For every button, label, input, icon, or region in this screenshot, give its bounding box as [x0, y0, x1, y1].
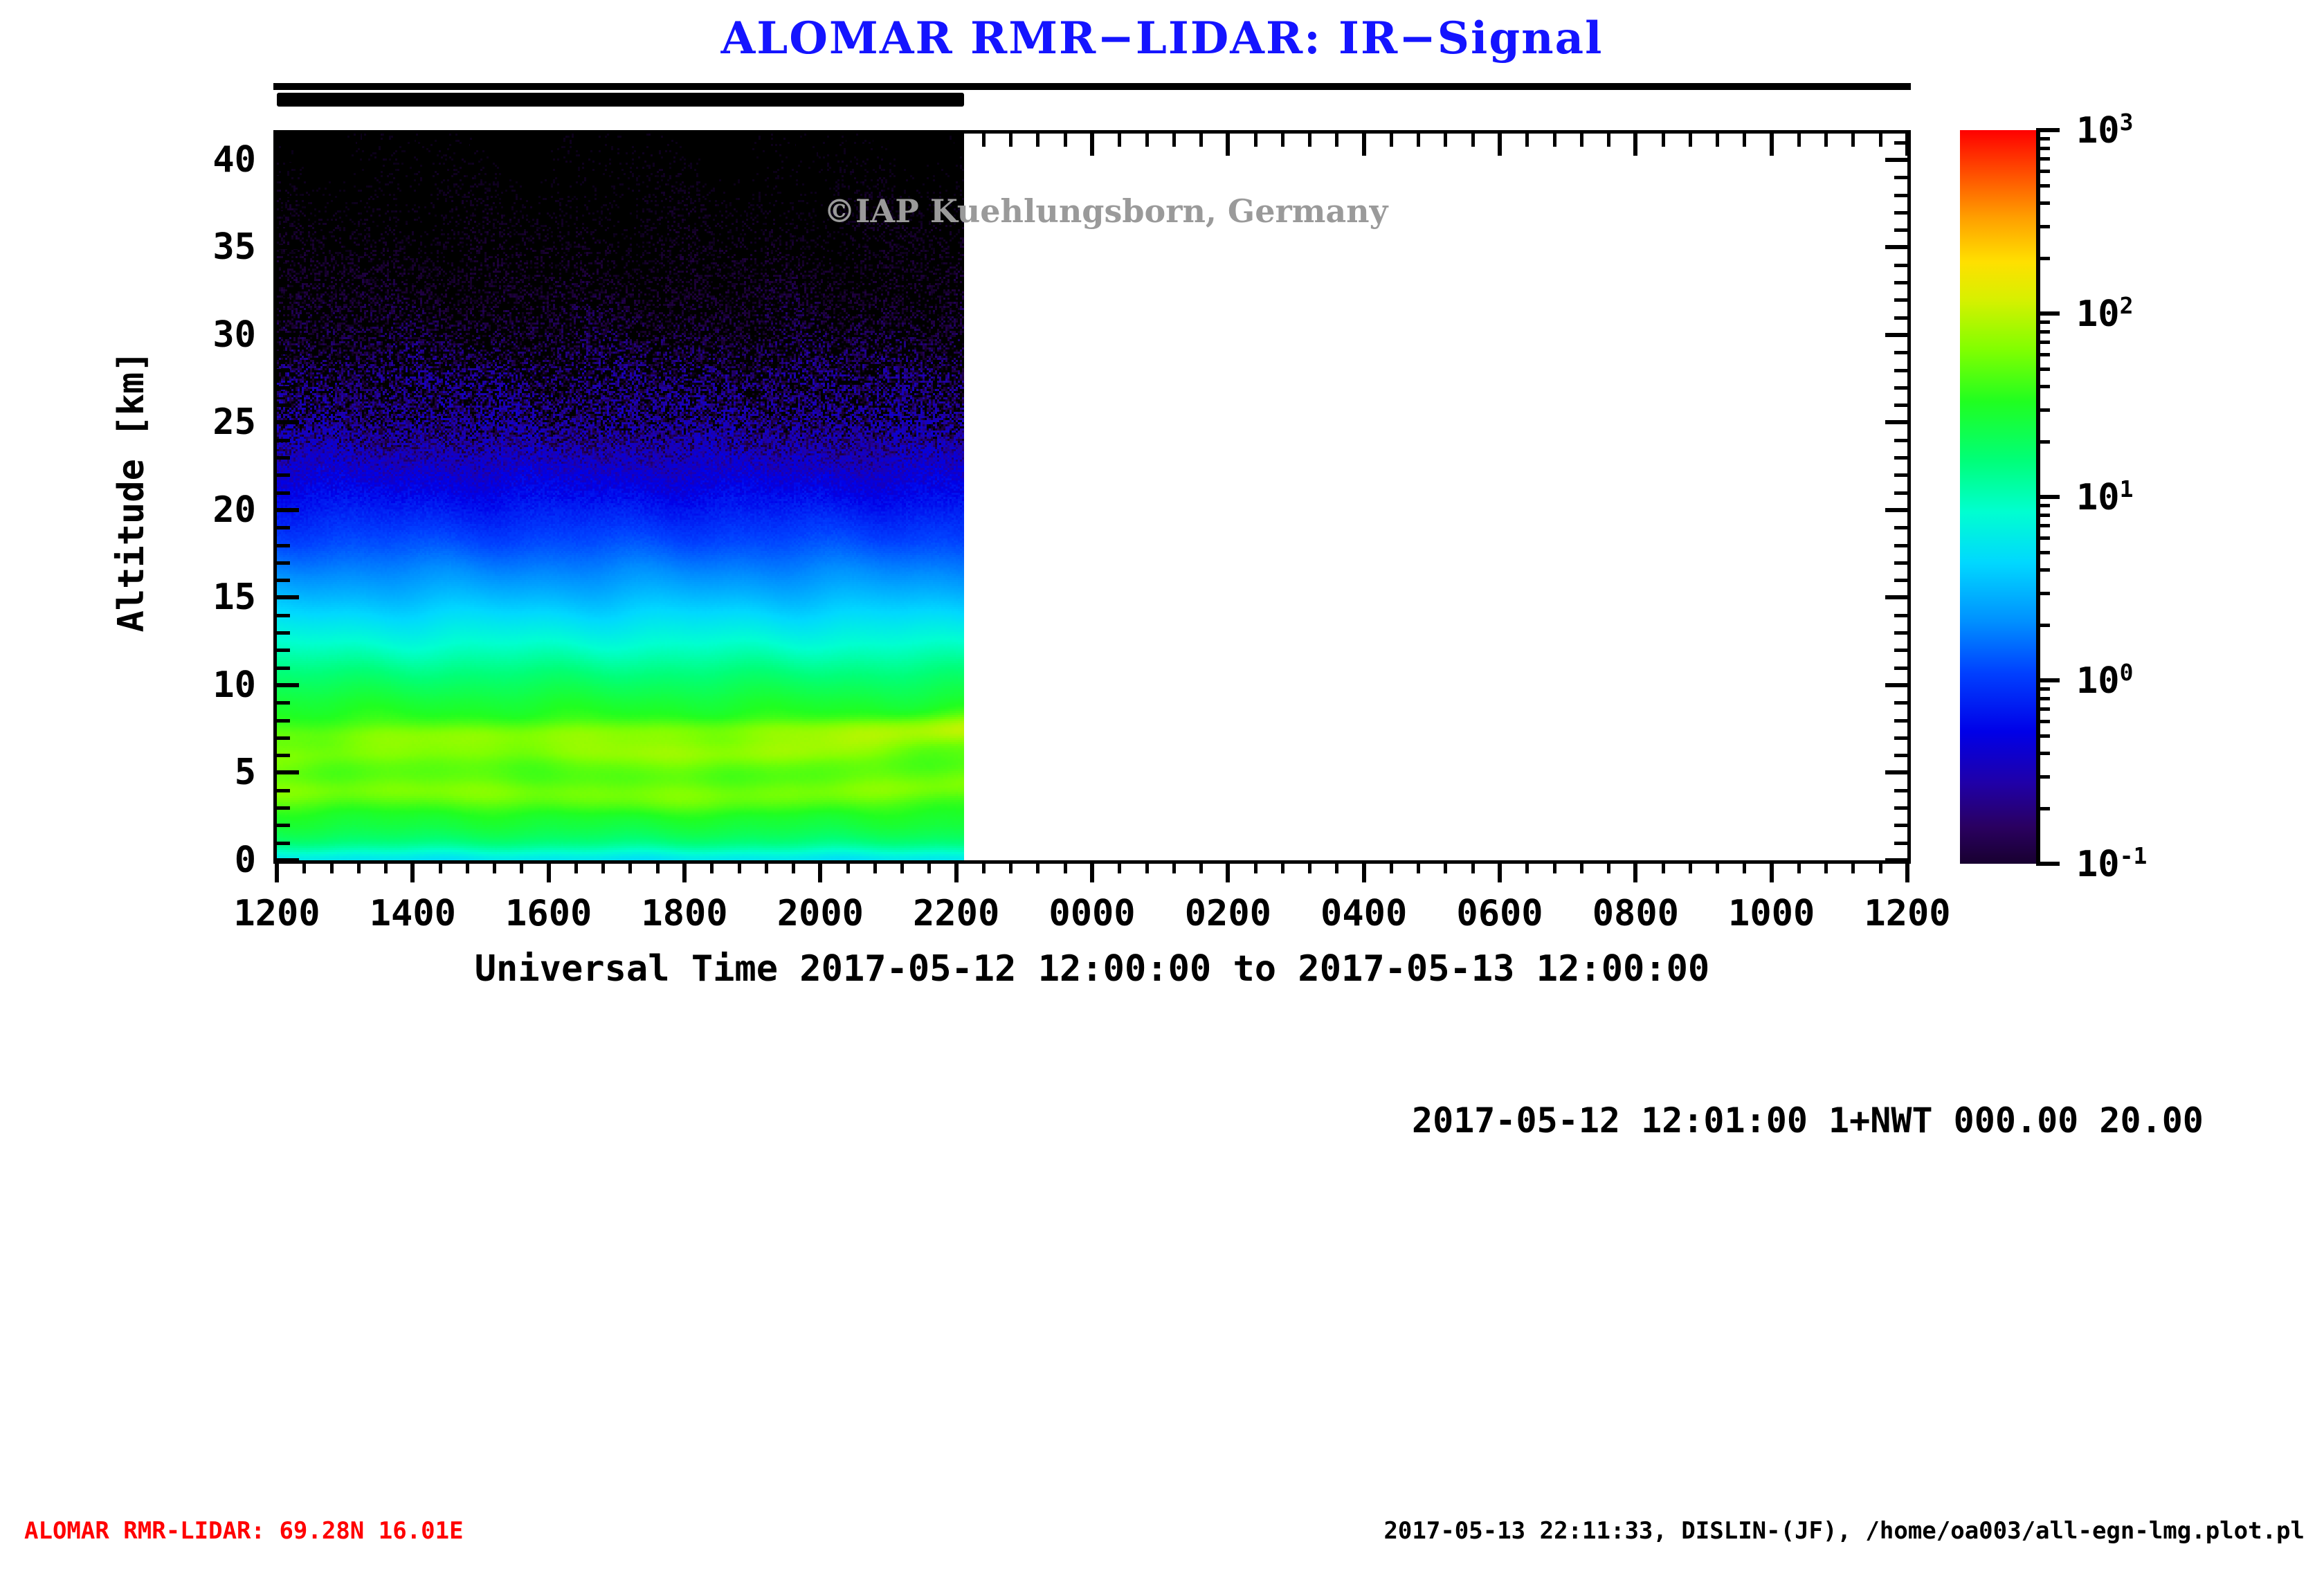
x-tick-major-top — [410, 134, 415, 156]
y-tick-major — [277, 420, 299, 424]
generator-footer: 2017-05-13 22:11:33, DISLIN-(JF), /home/… — [1383, 1517, 2305, 1545]
x-tick-minor — [1662, 860, 1665, 873]
x-axis-title: Universal Time 2017-05-12 12:00:00 to 20… — [273, 948, 1911, 990]
colorbar-tick-minor — [2036, 137, 2050, 140]
y-tick-minor — [277, 369, 290, 372]
y-tick-minor — [277, 526, 290, 529]
x-tick-minor — [1851, 860, 1855, 873]
y-tick-minor-right — [1894, 351, 1907, 354]
x-tick-minor-top — [1607, 134, 1610, 147]
y-tick-minor-right — [1894, 754, 1907, 757]
x-tick-minor — [520, 860, 523, 873]
x-tick-major — [1498, 860, 1502, 882]
x-tick-major — [1770, 860, 1774, 882]
y-tick-major-right — [1885, 595, 1907, 599]
colorbar-tick-minor — [2036, 408, 2050, 412]
x-tick-minor-top — [846, 134, 850, 147]
y-tick-minor — [277, 561, 290, 565]
colorbar-tick-minor — [2036, 536, 2050, 540]
y-tick-minor-right — [1894, 403, 1907, 407]
y-tick-major — [277, 333, 299, 337]
colorbar-tick-minor — [2036, 807, 2050, 810]
y-tick-minor — [277, 701, 290, 705]
x-tick-minor — [439, 860, 442, 873]
y-tick-major — [277, 770, 299, 774]
x-tick-minor-top — [601, 134, 605, 147]
x-tick-major-top — [275, 134, 279, 156]
y-tick-minor-right — [1894, 264, 1907, 267]
x-tick-major-top — [1362, 134, 1366, 156]
colorbar-tick-minor — [2036, 353, 2050, 356]
y-tick-minor-right — [1894, 561, 1907, 565]
colorbar-tick-minor — [2036, 385, 2050, 388]
x-tick-minor — [900, 860, 904, 873]
x-tick-minor-top — [1525, 134, 1529, 147]
y-tick-minor-right — [1894, 211, 1907, 215]
y-tick-minor — [277, 719, 290, 723]
x-tick-major-top — [1633, 134, 1637, 156]
x-tick-minor — [330, 860, 334, 873]
x-tick-major — [1090, 860, 1094, 882]
y-tick-minor-right — [1894, 736, 1907, 740]
y-tick-minor — [277, 614, 290, 617]
colorbar-tick-minor — [2036, 592, 2050, 595]
x-tick-minor — [765, 860, 768, 873]
y-tick-minor — [277, 806, 290, 810]
y-tick-minor-right — [1894, 316, 1907, 320]
x-tick-minor-top — [466, 134, 469, 147]
y-tick-major-right — [1885, 333, 1907, 337]
x-tick-major-top — [1226, 134, 1230, 156]
x-tick-minor-top — [1444, 134, 1447, 147]
y-tick-major — [277, 245, 299, 249]
x-tick-minor-top — [1335, 134, 1338, 147]
y-tick-minor — [277, 281, 290, 284]
x-tick-minor-top — [302, 134, 306, 147]
y-tick-minor-right — [1894, 491, 1907, 495]
x-tick-major-top — [818, 134, 822, 156]
x-tick-minor-top — [1851, 134, 1855, 147]
y-tick-minor — [277, 211, 290, 215]
x-tick-minor-top — [384, 134, 388, 147]
x-tick-minor — [1471, 860, 1475, 873]
x-tick-major-top — [1905, 134, 1909, 156]
x-tick-minor-top — [1145, 134, 1149, 147]
y-tick-minor-right — [1894, 631, 1907, 635]
scan-annotation: 2017-05-12 12:01:00 1+NWT 000.00 20.00 — [1412, 1100, 2204, 1141]
y-tick-minor — [277, 736, 290, 740]
y-tick-minor-right — [1894, 298, 1907, 302]
x-tick-label: 1000 — [1728, 893, 1815, 934]
colorbar-tick-minor — [2036, 330, 2050, 334]
x-tick-minor — [601, 860, 605, 873]
colorbar-tick-minor — [2036, 752, 2050, 755]
x-tick-minor — [1417, 860, 1420, 873]
y-tick-major-right — [1885, 245, 1907, 249]
x-tick-label: 0800 — [1592, 893, 1679, 934]
colorbar-tick-minor — [2036, 720, 2050, 723]
colorbar-tick-minor — [2036, 568, 2050, 572]
x-tick-minor — [1009, 860, 1013, 873]
x-tick-minor — [357, 860, 361, 873]
x-tick-minor — [1254, 860, 1258, 873]
x-tick-minor-top — [628, 134, 632, 147]
x-tick-major — [1633, 860, 1637, 882]
x-tick-minor-top — [1281, 134, 1284, 147]
x-tick-minor — [1879, 860, 1882, 873]
x-tick-minor — [466, 860, 469, 873]
x-tick-minor-top — [357, 134, 361, 147]
x-tick-label: 1800 — [641, 893, 727, 934]
colorbar-tick-minor — [2036, 368, 2050, 371]
y-tick-major-right — [1885, 683, 1907, 687]
x-tick-major-top — [547, 134, 551, 156]
x-tick-minor-top — [738, 134, 741, 147]
x-tick-minor-top — [1797, 134, 1801, 147]
x-tick-label: 1600 — [505, 893, 592, 934]
plot-frame — [273, 130, 1911, 864]
y-tick-minor-right — [1894, 719, 1907, 723]
y-tick-minor-right — [1894, 228, 1907, 232]
x-tick-minor-top — [1417, 134, 1420, 147]
y-tick-major-right — [1885, 508, 1907, 512]
y-tick-minor — [277, 351, 290, 354]
colorbar-tick-minor — [2036, 707, 2050, 711]
x-tick-minor — [1444, 860, 1447, 873]
y-tick-minor-right — [1894, 526, 1907, 529]
x-tick-minor-top — [1199, 134, 1203, 147]
x-tick-minor-top — [1471, 134, 1475, 147]
y-tick-label: 40 — [100, 139, 256, 181]
y-tick-minor-right — [1894, 701, 1907, 705]
colorbar-tick-minor — [2036, 524, 2050, 527]
x-tick-major — [410, 860, 415, 882]
x-tick-minor-top — [1553, 134, 1556, 147]
colorbar-tick-minor — [2036, 687, 2050, 691]
x-tick-minor-top — [982, 134, 986, 147]
y-tick-major — [277, 595, 299, 599]
x-tick-minor-top — [656, 134, 660, 147]
x-tick-minor — [1743, 860, 1746, 873]
y-tick-major-right — [1885, 858, 1907, 862]
x-tick-minor-top — [1824, 134, 1828, 147]
y-tick-minor — [277, 473, 290, 477]
x-tick-minor — [628, 860, 632, 873]
x-tick-minor-top — [1254, 134, 1258, 147]
x-tick-label: 0000 — [1048, 893, 1135, 934]
x-tick-minor — [1689, 860, 1692, 873]
colorbar-tick-minor — [2036, 184, 2050, 188]
x-tick-major-top — [954, 134, 959, 156]
x-tick-minor-top — [710, 134, 714, 147]
y-tick-minor — [277, 194, 290, 197]
x-tick-major — [275, 860, 279, 882]
colorbar-tick-major — [2036, 862, 2060, 866]
y-tick-minor-right — [1894, 439, 1907, 442]
x-tick-minor-top — [1036, 134, 1040, 147]
y-tick-major-right — [1885, 420, 1907, 424]
y-tick-label: 0 — [100, 840, 256, 881]
x-tick-label: 0200 — [1185, 893, 1271, 934]
y-tick-minor — [277, 176, 290, 179]
y-tick-major-right — [1885, 158, 1907, 162]
colorbar-tick-label: 102 — [2076, 292, 2134, 335]
x-tick-minor — [927, 860, 931, 873]
y-tick-minor — [277, 666, 290, 670]
colorbar-tick-minor — [2036, 697, 2050, 700]
x-tick-minor-top — [1689, 134, 1692, 147]
y-tick-minor — [277, 386, 290, 390]
y-tick-minor-right — [1894, 789, 1907, 792]
x-tick-minor-top — [1390, 134, 1393, 147]
x-tick-minor — [1199, 860, 1203, 873]
y-tick-minor — [277, 403, 290, 407]
x-tick-minor — [792, 860, 795, 873]
x-tick-minor — [384, 860, 388, 873]
colorbar-tick-minor — [2036, 504, 2050, 507]
colorbar-tick-minor — [2036, 257, 2050, 260]
x-tick-label: 1200 — [1864, 893, 1950, 934]
colorbar-tick-minor — [2036, 225, 2050, 228]
x-tick-minor — [1824, 860, 1828, 873]
x-tick-minor — [1390, 860, 1393, 873]
x-tick-major — [1226, 860, 1230, 882]
x-tick-major — [547, 860, 551, 882]
x-tick-label: 2000 — [777, 893, 864, 934]
colorbar-tick-minor — [2036, 624, 2050, 627]
x-tick-minor-top — [1064, 134, 1067, 147]
y-tick-minor-right — [1894, 579, 1907, 582]
y-tick-minor — [277, 264, 290, 267]
y-tick-minor — [277, 824, 290, 827]
y-tick-minor — [277, 491, 290, 495]
x-tick-minor — [1064, 860, 1067, 873]
x-tick-minor-top — [1879, 134, 1882, 147]
colorbar-tick-minor — [2036, 341, 2050, 344]
x-tick-minor-top — [1743, 134, 1746, 147]
x-tick-minor-top — [1580, 134, 1583, 147]
x-tick-minor — [846, 860, 850, 873]
y-tick-minor-right — [1894, 666, 1907, 670]
y-tick-minor — [277, 298, 290, 302]
colorbar-tick-major — [2036, 678, 2060, 682]
station-footer: ALOMAR RMR-LIDAR: 69.28N 16.01E — [24, 1517, 464, 1545]
y-tick-minor — [277, 649, 290, 652]
x-tick-minor — [656, 860, 660, 873]
y-tick-minor-right — [1894, 194, 1907, 197]
x-tick-minor — [1335, 860, 1338, 873]
x-tick-minor — [493, 860, 496, 873]
y-tick-minor-right — [1894, 141, 1907, 145]
x-tick-major — [1362, 860, 1366, 882]
x-tick-label: 1200 — [233, 893, 320, 934]
x-tick-major-top — [682, 134, 687, 156]
y-axis-title: Altitude [km] — [111, 284, 152, 699]
y-tick-minor-right — [1894, 649, 1907, 652]
x-tick-major — [682, 860, 687, 882]
x-tick-minor-top — [765, 134, 768, 147]
y-tick-minor — [277, 316, 290, 320]
colorbar-tick-minor — [2036, 551, 2050, 554]
y-tick-major — [277, 158, 299, 162]
x-tick-minor — [1172, 860, 1176, 873]
colorbar-tick-minor — [2036, 157, 2050, 161]
y-tick-minor-right — [1894, 473, 1907, 477]
x-tick-minor-top — [439, 134, 442, 147]
x-tick-major — [818, 860, 822, 882]
y-tick-minor — [277, 439, 290, 442]
x-tick-minor — [574, 860, 578, 873]
y-tick-minor-right — [1894, 281, 1907, 284]
x-tick-minor — [710, 860, 714, 873]
x-tick-minor-top — [1308, 134, 1311, 147]
x-tick-minor — [1118, 860, 1121, 873]
x-tick-minor — [1607, 860, 1610, 873]
x-tick-label: 2200 — [913, 893, 999, 934]
y-tick-major-right — [1885, 770, 1907, 774]
y-tick-label: 35 — [100, 226, 256, 268]
y-tick-minor — [277, 579, 290, 582]
colorbar-tick-minor — [2036, 775, 2050, 779]
colorbar-tick-minor — [2036, 514, 2050, 517]
y-tick-minor-right — [1894, 824, 1907, 827]
y-tick-minor — [277, 842, 290, 845]
y-tick-minor — [277, 228, 290, 232]
colorbar-tick-minor — [2036, 147, 2050, 150]
y-tick-minor-right — [1894, 806, 1907, 810]
x-tick-minor-top — [1172, 134, 1176, 147]
y-tick-minor-right — [1894, 369, 1907, 372]
x-tick-major-top — [1498, 134, 1502, 156]
x-tick-minor — [1580, 860, 1583, 873]
x-tick-minor-top — [900, 134, 904, 147]
x-tick-minor-top — [493, 134, 496, 147]
availability-track — [273, 83, 1911, 90]
x-tick-minor — [1525, 860, 1529, 873]
x-tick-minor — [982, 860, 986, 873]
colorbar-tick-minor — [2036, 201, 2050, 205]
x-tick-minor-top — [792, 134, 795, 147]
x-tick-minor-top — [927, 134, 931, 147]
y-tick-minor-right — [1894, 614, 1907, 617]
x-tick-minor — [873, 860, 877, 873]
x-tick-label: 0400 — [1320, 893, 1407, 934]
page-title: ALOMAR RMR−LIDAR: IR−Signal — [0, 12, 2324, 64]
x-tick-minor-top — [1009, 134, 1013, 147]
colorbar-tick-label: 103 — [2076, 109, 2134, 152]
x-tick-minor-top — [1118, 134, 1121, 147]
colorbar-tick-major — [2036, 495, 2060, 499]
x-tick-major — [1905, 860, 1909, 882]
y-tick-minor-right — [1894, 842, 1907, 845]
y-tick-minor-right — [1894, 176, 1907, 179]
colorbar-tick-major — [2036, 128, 2060, 132]
colorbar-tick-minor — [2036, 734, 2050, 738]
x-tick-minor — [1716, 860, 1719, 873]
y-tick-minor — [277, 544, 290, 547]
colorbar-tick-label: 100 — [2076, 659, 2134, 702]
x-tick-minor — [1553, 860, 1556, 873]
y-tick-minor — [277, 456, 290, 460]
y-tick-minor — [277, 754, 290, 757]
y-tick-minor-right — [1894, 544, 1907, 547]
colorbar-tick-minor — [2036, 170, 2050, 173]
y-tick-minor — [277, 141, 290, 145]
colorbar-tick-minor — [2036, 440, 2050, 444]
y-tick-label: 5 — [100, 752, 256, 793]
x-tick-minor-top — [330, 134, 334, 147]
x-tick-major-top — [1090, 134, 1094, 156]
x-tick-major-top — [1770, 134, 1774, 156]
colorbar-tick-label: 10-1 — [2076, 842, 2147, 885]
y-tick-minor — [277, 789, 290, 792]
x-tick-label: 1400 — [370, 893, 456, 934]
x-tick-major — [954, 860, 959, 882]
x-tick-minor — [1797, 860, 1801, 873]
y-tick-minor — [277, 631, 290, 635]
x-tick-minor-top — [873, 134, 877, 147]
lidar-heatmap — [277, 134, 964, 860]
y-tick-minor-right — [1894, 456, 1907, 460]
colorbar-gradient — [1960, 130, 2036, 864]
x-tick-minor — [738, 860, 741, 873]
measurement-period-bar — [277, 93, 964, 107]
x-tick-minor-top — [1716, 134, 1719, 147]
colorbar-tick-label: 101 — [2076, 475, 2134, 518]
x-tick-minor — [1308, 860, 1311, 873]
x-tick-minor — [1036, 860, 1040, 873]
x-tick-minor-top — [1662, 134, 1665, 147]
x-tick-label: 0600 — [1456, 893, 1543, 934]
colorbar-tick-major — [2036, 311, 2060, 316]
colorbar-tick-minor — [2036, 320, 2050, 324]
y-tick-major — [277, 858, 299, 862]
y-tick-major — [277, 683, 299, 687]
y-tick-minor-right — [1894, 386, 1907, 390]
x-tick-minor — [1281, 860, 1284, 873]
y-tick-major — [277, 508, 299, 512]
x-tick-minor-top — [574, 134, 578, 147]
x-tick-minor — [302, 860, 306, 873]
x-tick-minor — [1145, 860, 1149, 873]
x-tick-minor-top — [520, 134, 523, 147]
